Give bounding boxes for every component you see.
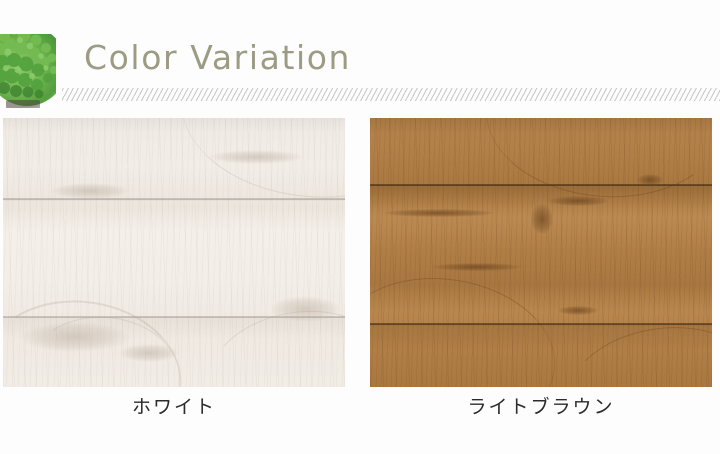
swatch-white[interactable]	[3, 118, 345, 387]
color-swatch-gallery	[0, 118, 720, 388]
swatch-light-brown[interactable]	[370, 118, 712, 387]
white-wood-plank-swatch-icon	[3, 118, 345, 387]
page-header: Color Variation	[0, 0, 720, 112]
light-brown-wood-plank-swatch-icon	[370, 118, 712, 387]
color-variation-page: Color Variation	[0, 0, 720, 454]
swatch-caption-white: ホワイト	[3, 394, 345, 420]
page-title: Color Variation	[84, 38, 351, 77]
swatch-caption-light-brown: ライトブラウン	[370, 394, 712, 420]
diagonal-hatch-rule-icon	[62, 88, 720, 101]
